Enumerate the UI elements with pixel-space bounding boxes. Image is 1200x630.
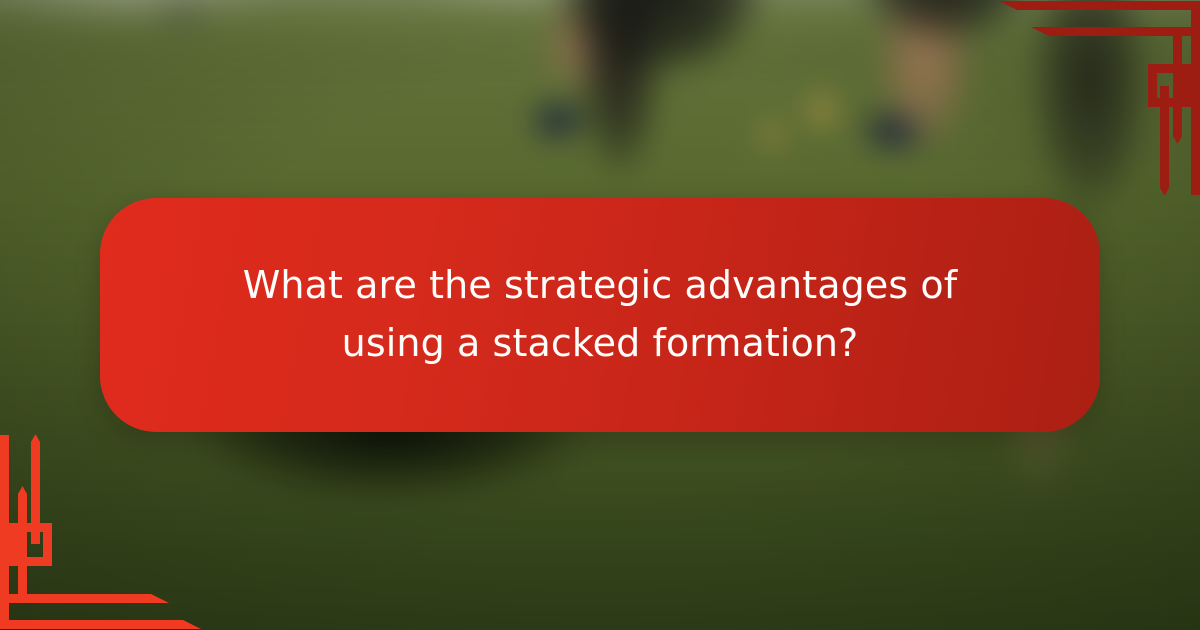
- poster-canvas: What are the strategic advantages of usi…: [0, 0, 1200, 630]
- question-card: What are the strategic advantages of usi…: [100, 198, 1100, 432]
- question-text: What are the strategic advantages of usi…: [205, 257, 995, 373]
